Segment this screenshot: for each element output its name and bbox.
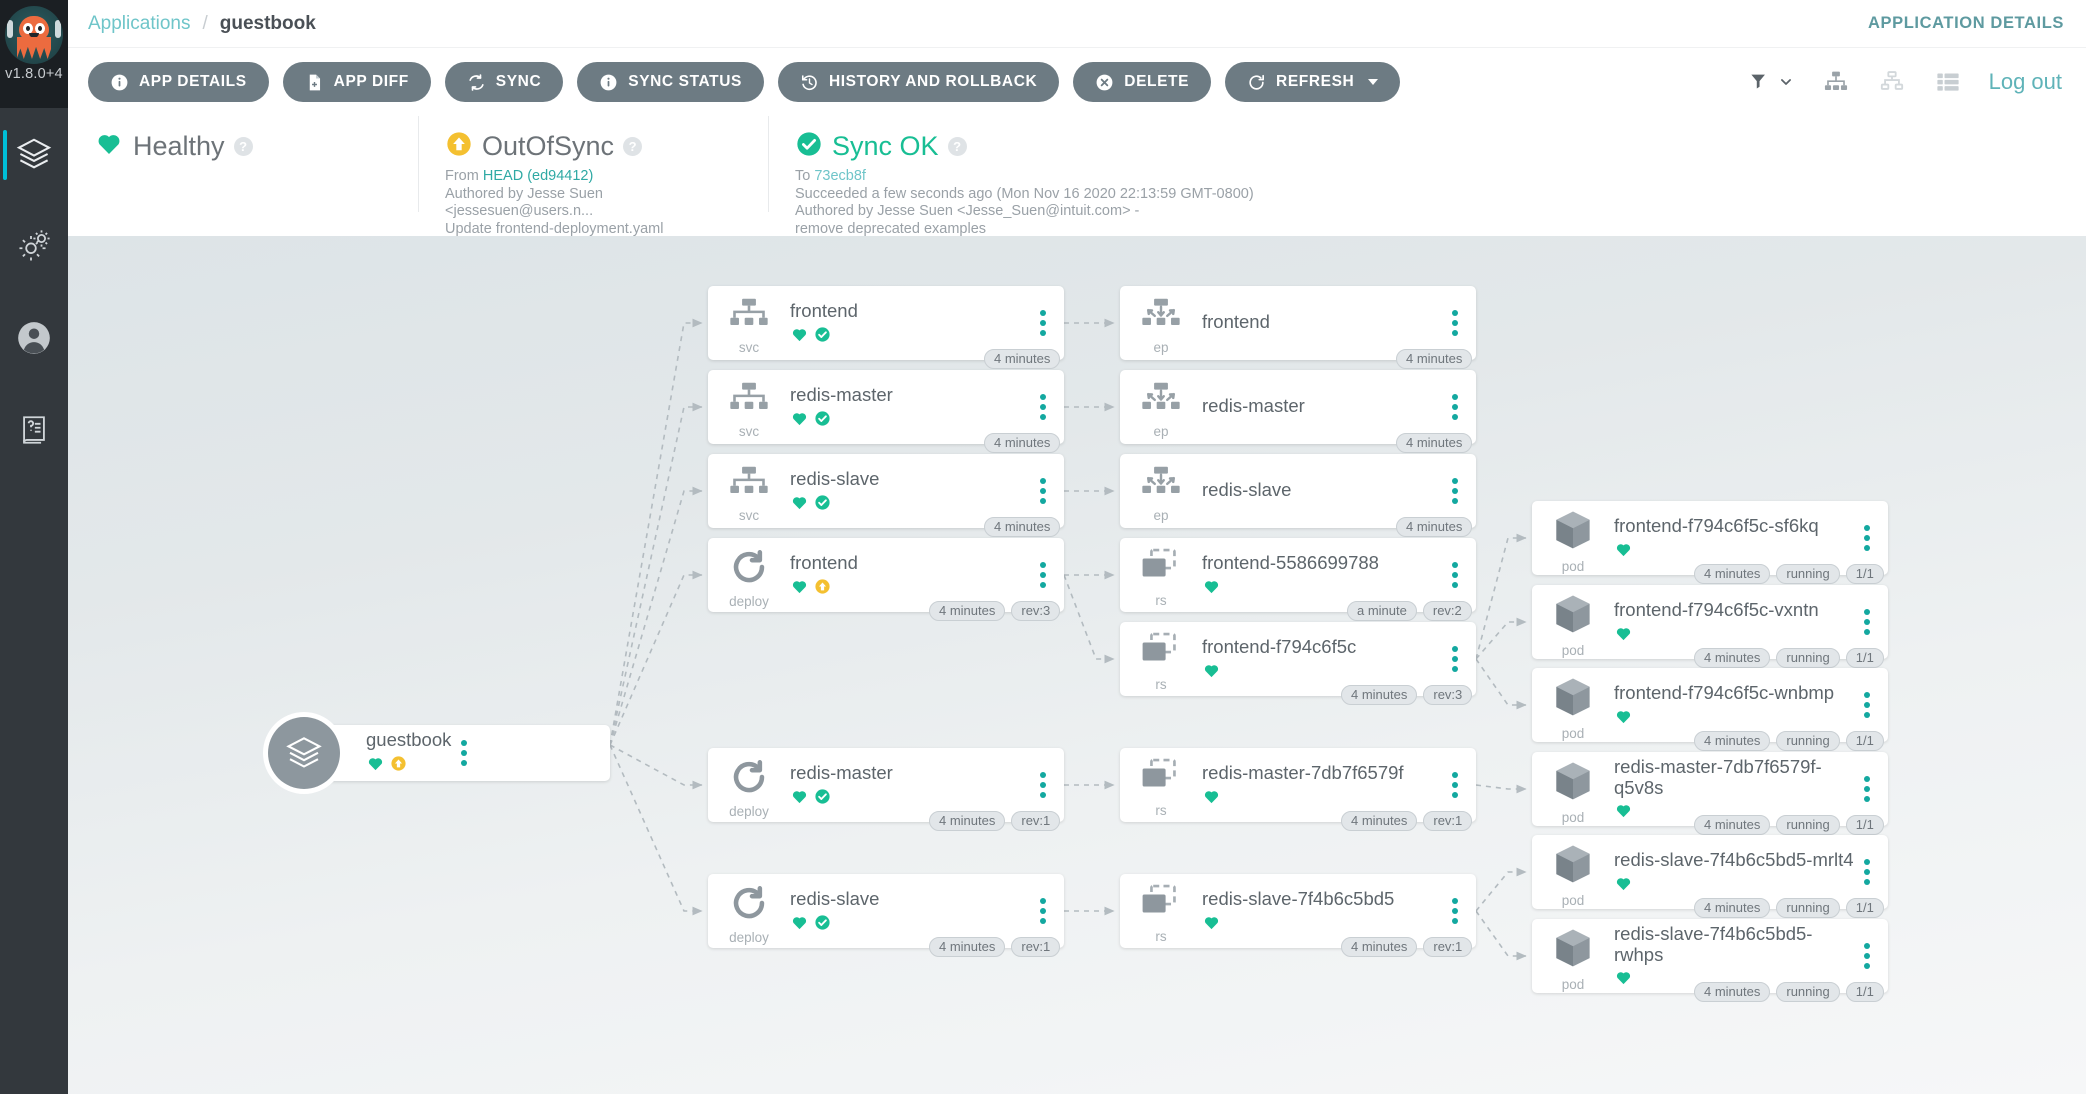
heart-icon xyxy=(1614,625,1633,647)
sync-button[interactable]: SYNC xyxy=(445,62,563,102)
node-kind-label: ep xyxy=(1153,424,1168,439)
node-pills: 4 minutesrev:1 xyxy=(929,937,1060,957)
history-and-rollback-button-label: HISTORY AND ROLLBACK xyxy=(829,73,1037,91)
node-title: redis-slave xyxy=(1202,479,1442,500)
node-menu-button[interactable] xyxy=(1854,859,1888,885)
node-kind-label: rs xyxy=(1155,929,1166,944)
node-pill: 4 minutes xyxy=(1396,349,1472,369)
heart-icon xyxy=(1202,578,1221,600)
tree-edge xyxy=(610,491,702,745)
check-circle-icon xyxy=(814,914,831,936)
node-body: frontend xyxy=(790,550,1030,599)
node-body: frontend xyxy=(1202,309,1442,336)
resource-tree-canvas[interactable]: guestbook svcfrontend4 minutessvcredis-m… xyxy=(68,236,2086,1094)
node-body: redis-master-7db7f6579f-q5v8s xyxy=(1614,754,1854,825)
node-pill: running xyxy=(1776,815,1839,835)
pod-icon xyxy=(1550,507,1596,558)
node-title: redis-master xyxy=(1202,395,1442,416)
node-badges xyxy=(1202,578,1442,600)
root-node-title: guestbook xyxy=(366,729,451,750)
tree-edge xyxy=(610,407,702,745)
node-pill: rev:3 xyxy=(1423,685,1472,705)
heart-icon xyxy=(1202,914,1221,936)
service-icon xyxy=(727,380,771,423)
tree-edge xyxy=(1476,911,1526,956)
node-body: redis-master-7db7f6579f xyxy=(1202,760,1442,809)
replicaset-icon xyxy=(1138,631,1184,676)
gear-icon xyxy=(16,228,52,264)
node-kind-column: pod xyxy=(1532,919,1614,993)
refresh-icon xyxy=(1247,73,1266,92)
app-diff-button[interactable]: APP DIFF xyxy=(283,62,431,102)
history-icon xyxy=(800,73,819,92)
sync-from-prefix: From xyxy=(445,168,479,184)
resource-node-root-application[interactable]: guestbook xyxy=(268,717,610,789)
sidebar-item-settings[interactable] xyxy=(0,200,68,292)
node-badges xyxy=(1614,708,1854,730)
heart-icon xyxy=(1614,969,1633,991)
heart-icon xyxy=(790,578,809,600)
node-pill: rev:1 xyxy=(1423,937,1472,957)
app-details-button-label: APP DETAILS xyxy=(139,73,247,91)
tree-edge xyxy=(1476,659,1526,705)
node-menu-button[interactable] xyxy=(1030,478,1064,504)
operation-status-title: Sync OK xyxy=(832,131,939,162)
node-kind-column: pod xyxy=(1532,668,1614,742)
tree-edge xyxy=(1476,872,1526,911)
node-pill: rev:1 xyxy=(1423,811,1472,831)
refresh-button[interactable]: REFRESH xyxy=(1225,62,1400,102)
status-strip: Healthy ? OutOfSync ? From HEAD (ed94412… xyxy=(68,116,2086,236)
node-pill: running xyxy=(1776,564,1839,584)
node-kind-label: ep xyxy=(1153,340,1168,355)
node-pill: 4 minutes xyxy=(1694,898,1770,918)
node-title: frontend-f794c6f5c-vxntn xyxy=(1614,599,1854,620)
node-menu-button[interactable] xyxy=(1030,562,1064,588)
heart-icon xyxy=(790,494,809,516)
node-title: frontend xyxy=(1202,311,1442,332)
node-badges xyxy=(790,494,1030,516)
node-kind-column: ep xyxy=(1120,370,1202,444)
delete-button-label: DELETE xyxy=(1124,73,1189,91)
node-kind-label: pod xyxy=(1562,893,1585,908)
node-kind-column: pod xyxy=(1532,752,1614,826)
heart-icon xyxy=(1202,788,1221,810)
arrow-up-circle-icon xyxy=(390,755,407,777)
node-pills: 4 minutesrunning1/1 xyxy=(1694,815,1884,835)
node-pill: 4 minutes xyxy=(929,811,1005,831)
node-title: redis-slave xyxy=(790,468,1030,489)
node-pill: 1/1 xyxy=(1846,815,1884,835)
breadcrumb: Applications / guestbook xyxy=(68,13,316,35)
node-menu-button[interactable] xyxy=(1854,943,1888,969)
endpoints-icon xyxy=(1139,296,1183,339)
node-body: frontend-f794c6f5c-vxntn xyxy=(1614,597,1854,646)
delete-button[interactable]: DELETE xyxy=(1073,62,1211,102)
sync-help-icon[interactable]: ? xyxy=(623,137,642,156)
node-kind-label: pod xyxy=(1562,726,1585,741)
node-kind-label: svc xyxy=(739,508,759,523)
node-pill: running xyxy=(1776,982,1839,1002)
action-toolbar: APP DETAILS APP DIFF SYNC SYNC STATUS xyxy=(68,48,2086,116)
version-label: v1.8.0+4 xyxy=(5,66,63,82)
deployment-icon xyxy=(728,882,770,929)
node-menu-button[interactable] xyxy=(1030,394,1064,420)
node-kind-column: pod xyxy=(1532,835,1614,909)
node-pills: a minuterev:2 xyxy=(1347,601,1472,621)
node-kind-label: deploy xyxy=(729,804,769,819)
node-title: frontend-f794c6f5c xyxy=(1202,636,1442,657)
node-body: frontend-f794c6f5c-wnbmp xyxy=(1614,680,1854,729)
tree-edge xyxy=(1476,785,1526,789)
node-menu-button[interactable] xyxy=(1854,692,1888,718)
node-pills: 4 minutesrev:1 xyxy=(1341,937,1472,957)
node-kind-column: svc xyxy=(708,286,790,360)
node-body: redis-slave xyxy=(790,886,1030,935)
node-pill: 4 minutes xyxy=(929,937,1005,957)
node-menu-button[interactable] xyxy=(1442,898,1476,924)
application-layers-icon xyxy=(268,717,340,789)
node-kind-label: deploy xyxy=(729,594,769,609)
service-icon xyxy=(727,296,771,339)
app-details-button[interactable]: APP DETAILS xyxy=(88,62,269,102)
node-menu-button[interactable] xyxy=(1442,394,1476,420)
node-pill: 4 minutes xyxy=(1396,433,1472,453)
sync-status-button-label: SYNC STATUS xyxy=(628,73,742,91)
node-pill: 4 minutes xyxy=(1396,517,1472,537)
node-title: frontend-5586699788 xyxy=(1202,552,1442,573)
sync-author-line: Authored by Jesse Suen <jessesuen@users.… xyxy=(445,186,746,221)
node-kind-label: svc xyxy=(739,340,759,355)
node-kind-column: svc xyxy=(708,370,790,444)
node-pills: 4 minutesrunning1/1 xyxy=(1694,564,1884,584)
node-badges xyxy=(790,326,1030,348)
operation-to-revision[interactable]: 73ecb8f xyxy=(814,168,866,184)
node-badges xyxy=(1202,662,1442,684)
info-icon xyxy=(110,73,129,92)
logout-link[interactable]: Log out xyxy=(1989,69,2062,95)
heart-icon xyxy=(790,410,809,432)
node-pills: 4 minutes xyxy=(1396,517,1472,537)
node-badges xyxy=(1614,625,1854,647)
node-menu-button[interactable] xyxy=(1442,562,1476,588)
node-badges xyxy=(790,410,1030,432)
node-pills: 4 minutesrunning1/1 xyxy=(1694,898,1884,918)
endpoints-icon xyxy=(1139,380,1183,423)
node-badges xyxy=(790,578,1030,600)
heart-icon xyxy=(1614,541,1633,563)
node-title: frontend-f794c6f5c-sf6kq xyxy=(1614,515,1854,536)
sync-icon xyxy=(467,73,486,92)
node-badges xyxy=(1202,914,1442,936)
node-badges xyxy=(1614,875,1854,897)
check-circle-icon xyxy=(795,130,823,163)
node-kind-column: ep xyxy=(1120,454,1202,528)
node-title: redis-slave-7f4b6c5bd5-rwhps xyxy=(1614,923,1854,966)
node-kind-column: deploy xyxy=(708,538,790,612)
node-title: frontend xyxy=(790,300,1030,321)
node-kind-label: pod xyxy=(1562,977,1585,992)
node-kind-label: rs xyxy=(1155,677,1166,692)
sync-from-revision[interactable]: HEAD (ed94412) xyxy=(483,168,593,184)
sync-status-panel[interactable]: OutOfSync ? From HEAD (ed94412) Authored… xyxy=(418,116,768,212)
operation-status-panel[interactable]: Sync OK ? To 73ecb8f Succeeded a few sec… xyxy=(768,116,1468,212)
sync-status-title: OutOfSync xyxy=(482,131,614,162)
node-menu-button[interactable] xyxy=(1442,646,1476,672)
node-pill: running xyxy=(1776,648,1839,668)
node-kind-column: rs xyxy=(1120,622,1202,696)
top-bar: Applications / guestbook APPLICATION DET… xyxy=(68,0,2086,48)
breadcrumb-applications-link[interactable]: Applications xyxy=(88,13,190,35)
node-pills: 4 minutes xyxy=(1396,433,1472,453)
arrow-up-circle-icon xyxy=(445,130,473,163)
node-body: redis-slave xyxy=(1202,477,1442,504)
node-menu-button[interactable] xyxy=(1442,310,1476,336)
node-kind-column: pod xyxy=(1532,501,1614,575)
chevron-down-icon xyxy=(1368,79,1378,85)
node-body: frontend-f794c6f5c-sf6kq xyxy=(1614,513,1854,562)
tree-edge xyxy=(610,575,702,745)
filter-chevron-down-icon[interactable] xyxy=(1777,75,1795,89)
node-badges xyxy=(1614,541,1854,563)
pod-icon xyxy=(1550,841,1596,892)
sync-from-line: From HEAD (ed94412) xyxy=(445,168,746,186)
node-body: frontend xyxy=(790,298,1030,347)
argo-octopus-logo xyxy=(5,6,63,64)
node-pills: 4 minutesrev:1 xyxy=(929,811,1060,831)
node-menu-button[interactable] xyxy=(1030,898,1064,924)
endpoints-icon xyxy=(1139,464,1183,507)
node-pill: 1/1 xyxy=(1846,898,1884,918)
node-title: redis-master-7db7f6579f-q5v8s xyxy=(1614,756,1854,799)
node-body: redis-slave-7f4b6c5bd5-mrlt4 xyxy=(1614,847,1854,896)
sync-button-label: SYNC xyxy=(496,73,541,91)
root-node-menu-button[interactable] xyxy=(451,740,485,766)
pod-icon xyxy=(1550,758,1596,809)
node-kind-label: pod xyxy=(1562,810,1585,825)
node-badges xyxy=(1202,788,1442,810)
node-title: frontend xyxy=(790,552,1030,573)
node-menu-button[interactable] xyxy=(1442,772,1476,798)
node-kind-column: deploy xyxy=(708,748,790,822)
node-pills: 4 minutes xyxy=(984,349,1060,369)
node-title: redis-master-7db7f6579f xyxy=(1202,762,1442,783)
node-pill: 4 minutes xyxy=(1694,815,1770,835)
deployment-icon xyxy=(728,546,770,593)
check-circle-icon xyxy=(814,494,831,516)
node-pills: 4 minutes xyxy=(1396,349,1472,369)
node-badges xyxy=(790,788,1030,810)
logo-block[interactable]: v1.8.0+4 xyxy=(0,0,68,108)
health-status-panel[interactable]: Healthy ? xyxy=(68,116,418,212)
node-pills: 4 minutesrunning1/1 xyxy=(1694,982,1884,1002)
node-kind-column: rs xyxy=(1120,748,1202,822)
app-diff-button-label: APP DIFF xyxy=(334,73,409,91)
node-pill: 1/1 xyxy=(1846,648,1884,668)
node-pill: 4 minutes xyxy=(1341,937,1417,957)
heart-icon xyxy=(790,788,809,810)
node-pill: 4 minutes xyxy=(1694,982,1770,1002)
node-pill: 1/1 xyxy=(1846,564,1884,584)
info-icon xyxy=(599,73,618,92)
tree-edge xyxy=(1476,538,1526,659)
node-kind-column: deploy xyxy=(708,874,790,948)
node-pill: 1/1 xyxy=(1846,731,1884,751)
user-icon xyxy=(15,319,53,357)
sidebar-item-documentation[interactable] xyxy=(0,384,68,476)
heart-icon xyxy=(366,755,385,777)
refresh-button-label: REFRESH xyxy=(1276,73,1354,91)
node-body: redis-slave-7f4b6c5bd5-rwhps xyxy=(1614,921,1854,992)
heart-icon xyxy=(94,130,124,162)
node-kind-column: pod xyxy=(1532,585,1614,659)
node-menu-button[interactable] xyxy=(1030,310,1064,336)
node-title: redis-master xyxy=(790,384,1030,405)
node-pills: 4 minutesrev:3 xyxy=(1341,685,1472,705)
node-pill: rev:1 xyxy=(1011,937,1060,957)
layers-icon xyxy=(15,135,53,173)
node-kind-label: svc xyxy=(739,424,759,439)
operation-help-icon[interactable]: ? xyxy=(948,137,967,156)
check-circle-icon xyxy=(814,788,831,810)
page-title: APPLICATION DETAILS xyxy=(1868,14,2064,33)
check-circle-icon xyxy=(814,410,831,432)
node-pill: running xyxy=(1776,731,1839,751)
node-body: redis-master xyxy=(1202,393,1442,420)
history-and-rollback-button[interactable]: HISTORY AND ROLLBACK xyxy=(778,62,1059,102)
sidebar-item-user-info[interactable] xyxy=(0,292,68,384)
node-kind-label: pod xyxy=(1562,559,1585,574)
filter-icon[interactable] xyxy=(1747,71,1773,93)
pod-icon xyxy=(1550,925,1596,976)
node-pills: 4 minutes xyxy=(984,517,1060,537)
pod-icon xyxy=(1550,591,1596,642)
node-kind-column: ep xyxy=(1120,286,1202,360)
node-pills: 4 minutesrev:3 xyxy=(929,601,1060,621)
heart-icon xyxy=(1614,708,1633,730)
node-pill: 4 minutes xyxy=(1341,685,1417,705)
node-badges xyxy=(790,914,1030,936)
node-kind-label: deploy xyxy=(729,930,769,945)
node-pill: a minute xyxy=(1347,601,1417,621)
sidebar: v1.8.0+4 xyxy=(0,0,68,1094)
node-pill: 4 minutes xyxy=(984,517,1060,537)
heart-icon xyxy=(790,914,809,936)
node-pill: 4 minutes xyxy=(1694,648,1770,668)
breadcrumb-separator: / xyxy=(202,13,207,35)
node-kind-label: pod xyxy=(1562,643,1585,658)
node-body: redis-master xyxy=(790,760,1030,809)
operation-author-line: Authored by Jesse Suen <Jesse_Suen@intui… xyxy=(795,203,1446,221)
node-kind-label: ep xyxy=(1153,508,1168,523)
heart-icon xyxy=(1614,875,1633,897)
delete-circle-icon xyxy=(1095,73,1114,92)
list-view-icon[interactable] xyxy=(1933,69,1963,95)
replicaset-icon xyxy=(1138,757,1184,802)
node-body: redis-slave-7f4b6c5bd5 xyxy=(1202,886,1442,935)
tree-view-icon[interactable] xyxy=(1821,69,1851,95)
node-menu-button[interactable] xyxy=(1854,776,1888,802)
deployment-icon xyxy=(728,756,770,803)
node-title: redis-master xyxy=(790,762,1030,783)
node-body: redis-master xyxy=(790,382,1030,431)
node-menu-button[interactable] xyxy=(1030,772,1064,798)
replicaset-icon xyxy=(1138,883,1184,928)
node-kind-column: rs xyxy=(1120,874,1202,948)
service-icon xyxy=(727,464,771,507)
node-kind-column: rs xyxy=(1120,538,1202,612)
pod-icon xyxy=(1550,674,1596,725)
node-pill: 4 minutes xyxy=(984,349,1060,369)
arrow-up-circle-icon xyxy=(814,578,831,600)
node-title: redis-slave xyxy=(790,888,1030,909)
node-title: redis-slave-7f4b6c5bd5-mrlt4 xyxy=(1614,849,1854,870)
operation-to-prefix: To xyxy=(795,168,810,184)
node-body: frontend-f794c6f5c xyxy=(1202,634,1442,683)
node-menu-button[interactable] xyxy=(1442,478,1476,504)
file-diff-icon xyxy=(305,73,324,92)
node-pills: 4 minutes xyxy=(984,433,1060,453)
heart-icon xyxy=(1614,802,1633,824)
sync-status-button[interactable]: SYNC STATUS xyxy=(577,62,764,102)
heart-icon xyxy=(790,326,809,348)
node-pills: 4 minutesrev:1 xyxy=(1341,811,1472,831)
sidebar-item-applications[interactable] xyxy=(0,108,68,200)
node-pill: rev:3 xyxy=(1011,601,1060,621)
check-circle-icon xyxy=(814,326,831,348)
node-pill: running xyxy=(1776,898,1839,918)
node-kind-column: svc xyxy=(708,454,790,528)
breadcrumb-current-app: guestbook xyxy=(220,13,316,35)
node-pill: 1/1 xyxy=(1846,982,1884,1002)
node-menu-button[interactable] xyxy=(1854,525,1888,551)
node-menu-button[interactable] xyxy=(1854,609,1888,635)
heart-icon xyxy=(1202,662,1221,684)
toolbar-right-group: Log out xyxy=(1747,69,2086,95)
node-title: redis-slave-7f4b6c5bd5 xyxy=(1202,888,1442,909)
operation-to-line: To 73ecb8f xyxy=(795,168,1446,186)
book-help-icon xyxy=(17,413,51,447)
node-pill: 4 minutes xyxy=(1694,564,1770,584)
node-pill: 4 minutes xyxy=(1341,811,1417,831)
operation-succeeded-line: Succeeded a few seconds ago (Mon Nov 16 … xyxy=(795,186,1446,204)
node-pill: rev:1 xyxy=(1011,811,1060,831)
node-kind-label: rs xyxy=(1155,803,1166,818)
node-title: frontend-f794c6f5c-wnbmp xyxy=(1614,682,1854,703)
node-pill: 4 minutes xyxy=(1694,731,1770,751)
network-view-icon[interactable] xyxy=(1877,69,1907,95)
tree-edge xyxy=(1064,575,1114,659)
node-pill: rev:2 xyxy=(1423,601,1472,621)
node-kind-label: rs xyxy=(1155,593,1166,608)
tree-edge xyxy=(610,745,702,785)
node-body: frontend-5586699788 xyxy=(1202,550,1442,599)
node-pill: 4 minutes xyxy=(929,601,1005,621)
root-node-card[interactable]: guestbook xyxy=(304,725,610,781)
health-help-icon[interactable]: ? xyxy=(234,137,253,156)
health-status-title: Healthy xyxy=(133,131,225,162)
node-pills: 4 minutesrunning1/1 xyxy=(1694,648,1884,668)
node-pills: 4 minutesrunning1/1 xyxy=(1694,731,1884,751)
node-body: redis-slave xyxy=(790,466,1030,515)
node-pill: 4 minutes xyxy=(984,433,1060,453)
replicaset-icon xyxy=(1138,547,1184,592)
